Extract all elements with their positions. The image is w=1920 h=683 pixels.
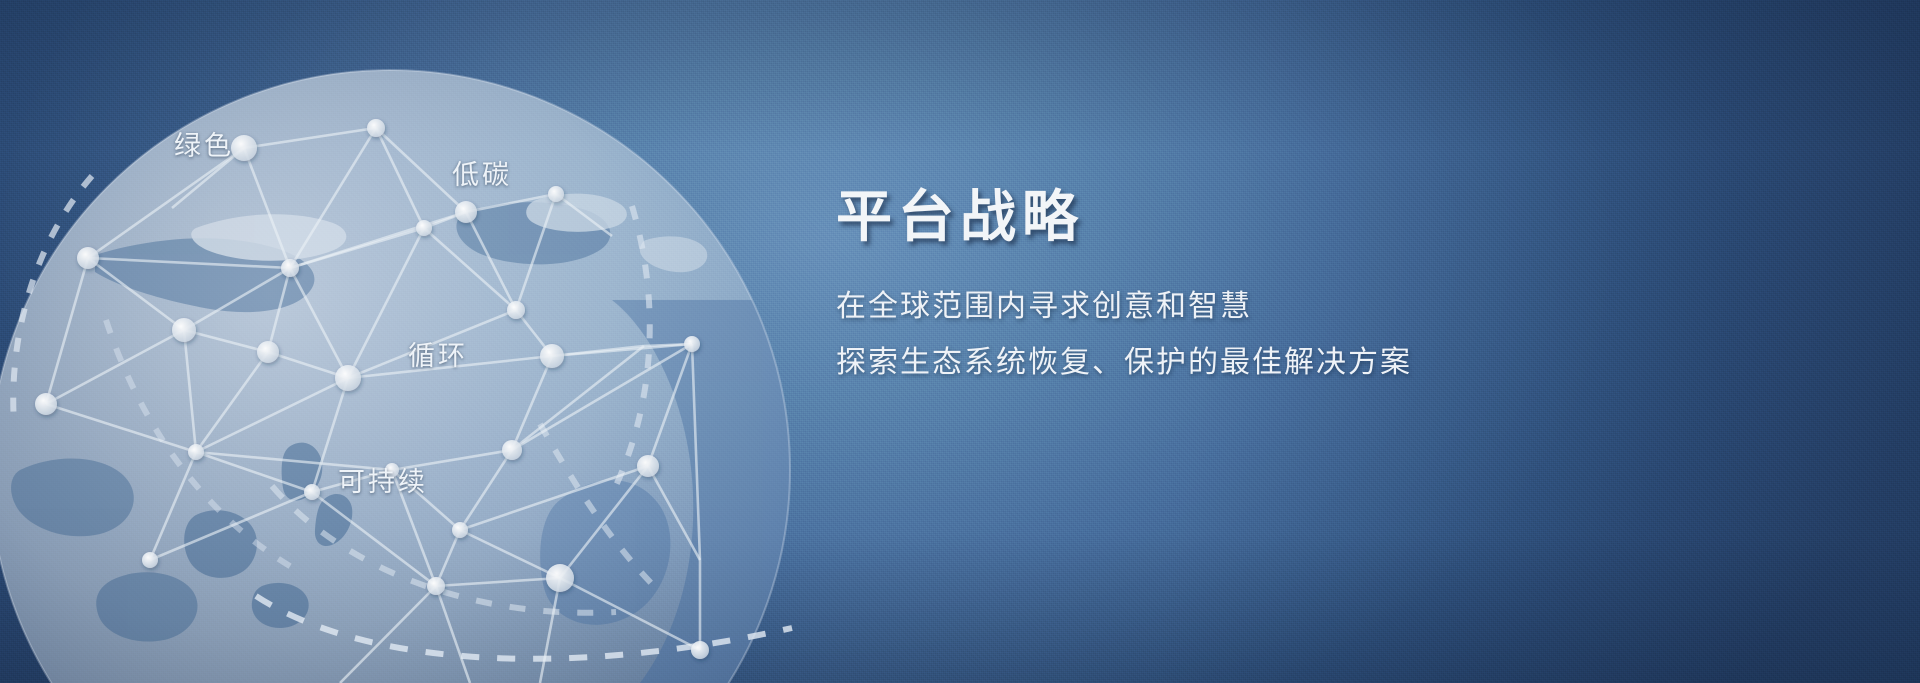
hero-subtitle-line-2: 探索生态系统恢复、保护的最佳解决方案 bbox=[836, 340, 1656, 387]
hero-banner: 绿色 低碳 循环 可持续 平台战略 在全球范围内寻求创意和智慧 探索生态系统恢复… bbox=[0, 0, 1920, 683]
globe-label-circular: 循环 bbox=[408, 334, 468, 373]
globe-label-green: 绿色 bbox=[174, 124, 234, 163]
globe-label-low-carbon: 低碳 bbox=[452, 153, 512, 192]
page-title: 平台战略 bbox=[836, 186, 1656, 248]
hero-text-block: 平台战略 在全球范围内寻求创意和智慧 探索生态系统恢复、保护的最佳解决方案 bbox=[836, 186, 1656, 387]
globe-label-sustainable: 可持续 bbox=[338, 460, 428, 499]
hero-subtitle-line-1: 在全球范围内寻求创意和智慧 bbox=[836, 284, 1656, 331]
